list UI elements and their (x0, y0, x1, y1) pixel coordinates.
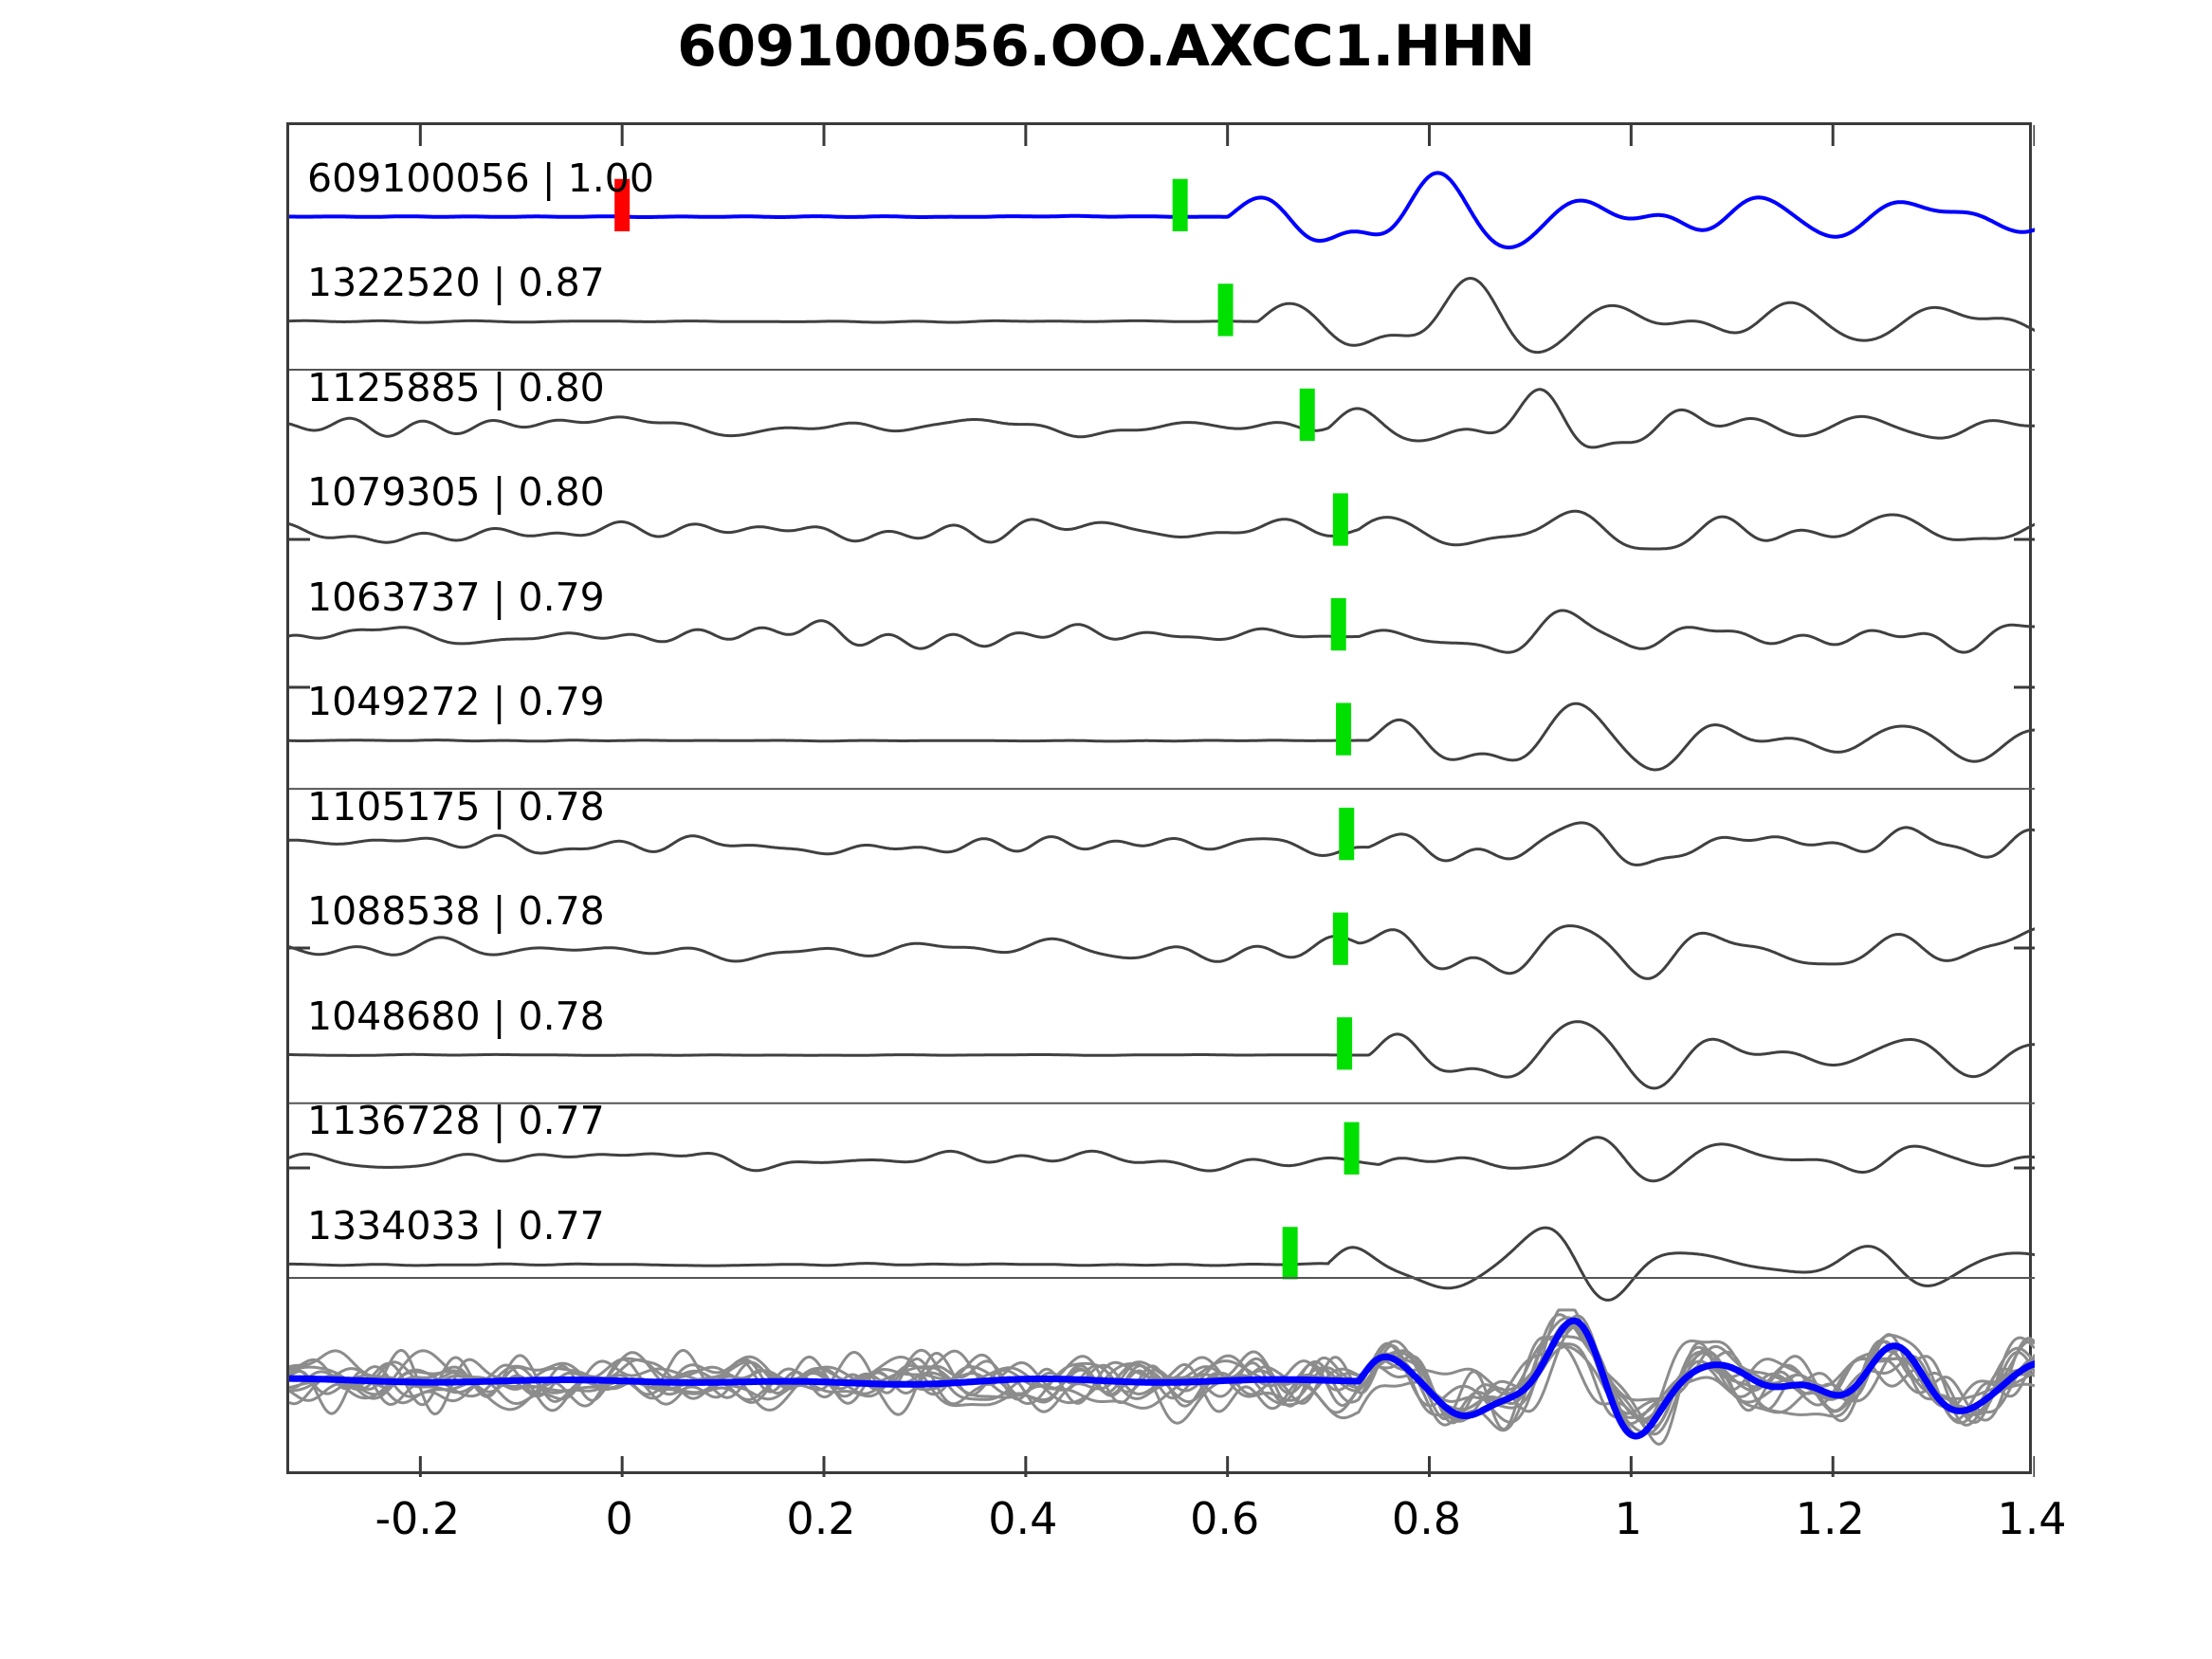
trace-label: 1322520 | 0.87 (307, 264, 605, 302)
trace-label: 1105175 | 0.78 (307, 788, 605, 827)
trace-label: 1088538 | 0.78 (307, 892, 605, 931)
trace-label: 1136728 | 0.77 (307, 1102, 605, 1140)
x-tick-label: 0 (606, 1493, 633, 1544)
x-tick-label: 1 (1615, 1493, 1642, 1544)
trace-label: 1063737 | 0.79 (307, 578, 605, 617)
trace-label: 1125885 | 0.80 (307, 369, 605, 408)
x-tick-label: 1.4 (1997, 1493, 2066, 1544)
x-tick-label: 1.2 (1796, 1493, 1865, 1544)
trace-label: 1048680 | 0.78 (307, 997, 605, 1036)
x-tick-label: 0.8 (1392, 1493, 1461, 1544)
x-tick-label: 0.6 (1190, 1493, 1259, 1544)
figure-root: 609100056.OO.AXCC1.HHN 609100056 | 1.001… (0, 0, 2212, 1659)
x-tick-label: 0.4 (988, 1493, 1057, 1544)
page-title: 609100056.OO.AXCC1.HHN (0, 13, 2212, 80)
trace-label: 1334033 | 0.77 (307, 1207, 605, 1246)
trace-label: 1049272 | 0.79 (307, 683, 605, 721)
trace-label: 609100056 | 1.00 (307, 159, 654, 198)
x-tick-label: -0.2 (375, 1493, 460, 1544)
x-tick-label: 0.2 (786, 1493, 855, 1544)
trace-label: 1079305 | 0.80 (307, 473, 605, 512)
